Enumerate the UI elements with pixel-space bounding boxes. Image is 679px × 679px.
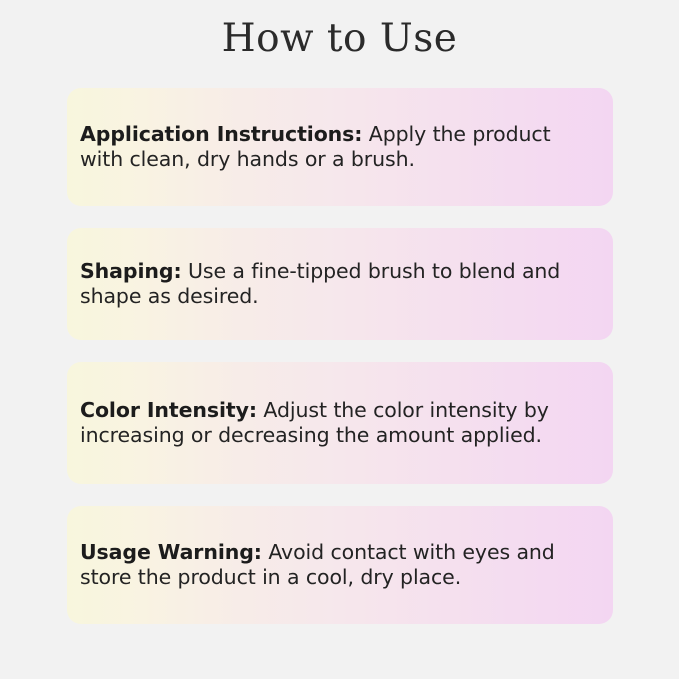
page-title: How to Use <box>0 18 679 61</box>
instruction-card-label: Color Intensity: <box>80 398 257 422</box>
instruction-card: Application Instructions: Apply the prod… <box>67 88 613 206</box>
instruction-card: Shaping: Use a fine-tipped brush to blen… <box>67 228 613 340</box>
instruction-card-label: Application Instructions: <box>80 122 362 146</box>
instruction-card-text: Application Instructions: Apply the prod… <box>80 122 589 172</box>
instruction-card-text: Usage Warning: Avoid contact with eyes a… <box>80 540 589 590</box>
instruction-card: Color Intensity: Adjust the color intens… <box>67 362 613 484</box>
instruction-card-label: Shaping: <box>80 259 182 283</box>
instruction-card-list: Application Instructions: Apply the prod… <box>67 88 613 646</box>
instruction-card-text: Color Intensity: Adjust the color intens… <box>80 398 589 448</box>
instruction-card-text: Shaping: Use a fine-tipped brush to blen… <box>80 259 589 309</box>
instruction-card: Usage Warning: Avoid contact with eyes a… <box>67 506 613 624</box>
how-to-use-infographic: How to Use Application Instructions: App… <box>0 0 679 679</box>
instruction-card-label: Usage Warning: <box>80 540 262 564</box>
